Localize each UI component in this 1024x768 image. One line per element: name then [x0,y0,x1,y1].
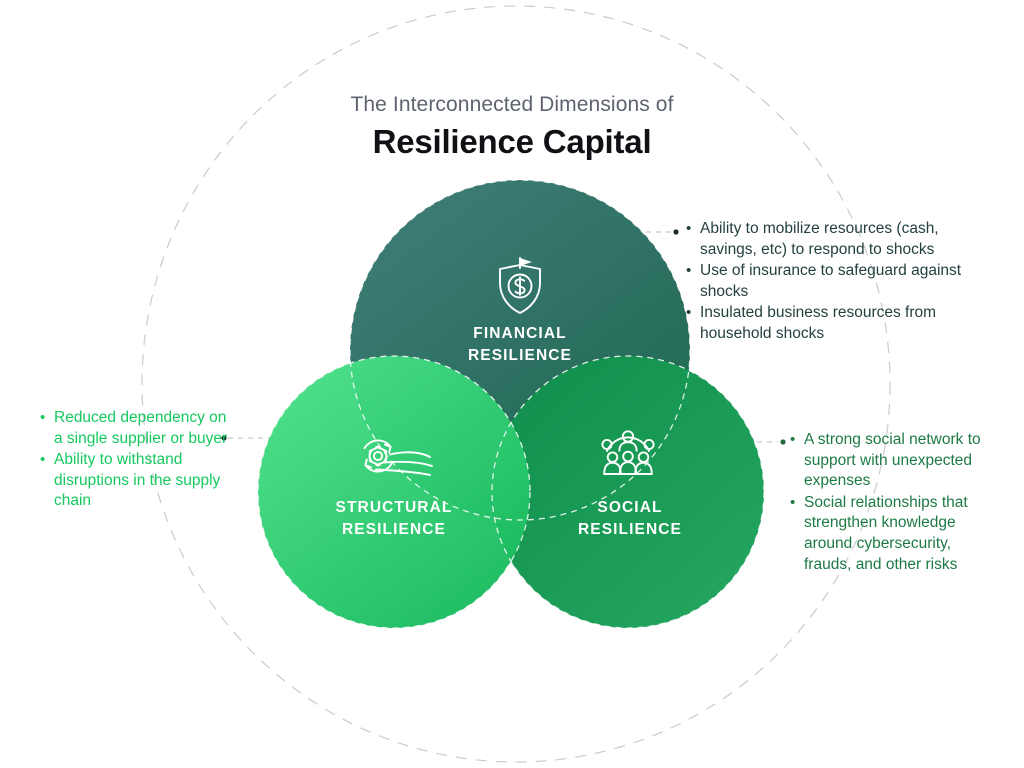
bullet-list-structural: •Reduced dependency on a single supplier… [40,408,236,513]
bullet-text: Ability to mobilize resources (cash, sav… [700,219,986,260]
bullet-text: Reduced dependency on a single supplier … [54,408,236,449]
bullet-text: A strong social network to support with … [804,430,1000,492]
bullet-marker-icon: • [790,493,801,513]
bullet-item: •Ability to withstand disruptions in the… [40,450,236,512]
bullet-marker-icon: • [686,303,697,323]
bullet-text: Use of insurance to safeguard against sh… [700,261,986,302]
bullet-item: •Reduced dependency on a single supplier… [40,408,236,449]
bullet-text: Ability to withstand disruptions in the … [54,450,236,512]
bullet-item: •Insulated business resources from house… [686,303,986,344]
bullet-text: Insulated business resources from househ… [700,303,986,344]
bullet-marker-icon: • [40,408,51,428]
circle-social[interactable] [492,356,764,628]
bullet-list-financial: •Ability to mobilize resources (cash, sa… [686,219,986,346]
bullet-item: •Social relationships that strengthen kn… [790,493,1000,575]
bullet-item: •Use of insurance to safeguard against s… [686,261,986,302]
bullet-marker-icon: • [790,430,801,450]
bullet-marker-icon: • [40,450,51,470]
diagram-canvas: The Interconnected Dimensions of Resilie… [0,0,1024,768]
bullet-item: •Ability to mobilize resources (cash, sa… [686,219,986,260]
bullet-text: Social relationships that strengthen kno… [804,493,1000,575]
bullet-item: •A strong social network to support with… [790,430,1000,492]
circle-structural[interactable] [258,356,530,628]
bullet-marker-icon: • [686,261,697,281]
bullet-marker-icon: • [686,219,697,239]
venn-diagram-svg [0,0,1024,768]
bullet-list-social: •A strong social network to support with… [790,430,1000,576]
